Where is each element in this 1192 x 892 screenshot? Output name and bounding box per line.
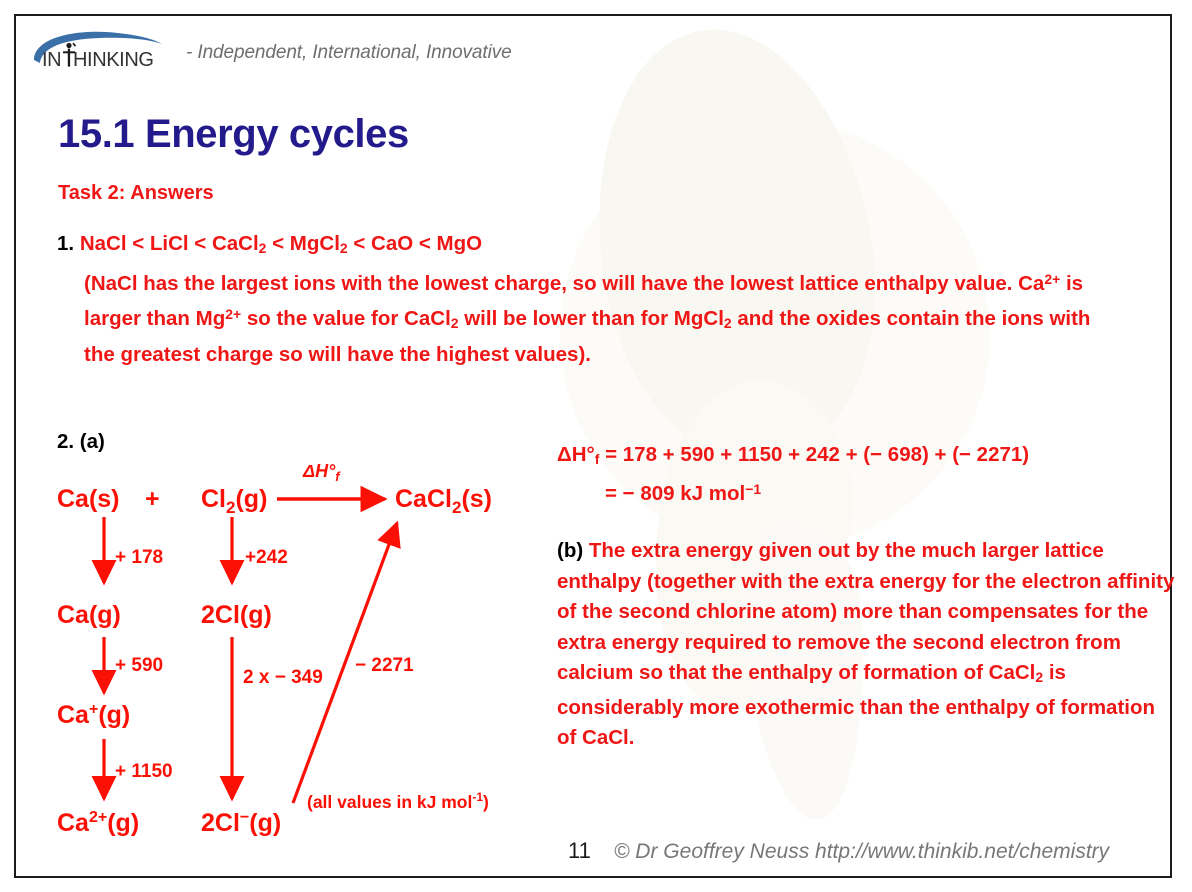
answer-1-block: 1. NaCl < LiCl < CaCl2 < MgCl2 < CaO < M…: [57, 228, 1117, 370]
species-ca-plus-g: Ca+(g): [57, 701, 130, 729]
calculation-line-2: = − 809 kJ mol−1: [557, 474, 1177, 509]
answer-1-order: NaCl < LiCl < CaCl2 < MgCl2 < CaO < MgO: [80, 232, 482, 255]
answer-1-number: 1.: [57, 232, 74, 255]
answer-1-explanation: (NaCl has the largest ions with the lowe…: [57, 264, 1117, 370]
inthinking-logo[interactable]: IN HINKING: [28, 30, 178, 76]
value-second-ionisation: + 1150: [115, 761, 173, 782]
answer-2b-block: (b) The extra energy given out by the mu…: [557, 536, 1175, 754]
copyright-notice: © Dr Geoffrey Neuss http://www.thinkib.n…: [614, 840, 1109, 864]
enthalpy-calculation: ΔH°f = 178 + 590 + 1150 + 242 + (− 698) …: [557, 440, 1177, 509]
value-lattice-enthalpy: − 2271: [355, 655, 414, 676]
species-2cl-g: 2Cl(g): [201, 601, 272, 629]
answer-2b-text: The extra energy given out by the much l…: [557, 539, 1174, 749]
section-subtitle: Task 2: Answers: [58, 182, 214, 205]
species-cacl2-s: CaCl2(s): [395, 485, 492, 517]
value-first-ionisation: + 590: [115, 655, 163, 676]
slide-canvas: IN HINKING - Independent, International,…: [0, 0, 1192, 892]
answer-2b-label: (b): [557, 539, 583, 562]
born-haber-cycle-diagram: Ca(s) + Cl2(g) CaCl2(s) Ca(g) 2Cl(g) Ca+…: [55, 455, 555, 845]
question-2a-label: 2. (a): [57, 430, 105, 454]
species-ca-g: Ca(g): [57, 601, 121, 629]
value-bond-dissociation: +242: [245, 547, 288, 568]
units-note: (all values in kJ mol-1): [307, 790, 489, 812]
species-ca-s: Ca(s): [57, 485, 120, 513]
value-atomisation: + 178: [115, 547, 163, 568]
species-plus-sign: +: [145, 485, 160, 513]
brand-tagline: - Independent, International, Innovative: [186, 42, 512, 64]
logo-wordmark-left: IN: [42, 49, 61, 71]
calculation-line-1: ΔH°f = 178 + 590 + 1150 + 242 + (− 698) …: [557, 443, 1029, 466]
logo-wordmark-right: HINKING: [73, 49, 154, 71]
brand-header: IN HINKING - Independent, International,…: [28, 30, 512, 76]
value-electron-affinity: 2 x − 349: [243, 667, 323, 688]
species-2cl-minus-g: 2Cl−(g): [201, 809, 281, 837]
species-cl2-g: Cl2(g): [201, 485, 267, 517]
page-number: 11: [568, 838, 591, 864]
page-title: 15.1 Energy cycles: [58, 112, 409, 157]
formation-arrow-label: ΔH°f: [302, 461, 341, 484]
species-ca-2plus-g: Ca2+(g): [57, 809, 139, 837]
